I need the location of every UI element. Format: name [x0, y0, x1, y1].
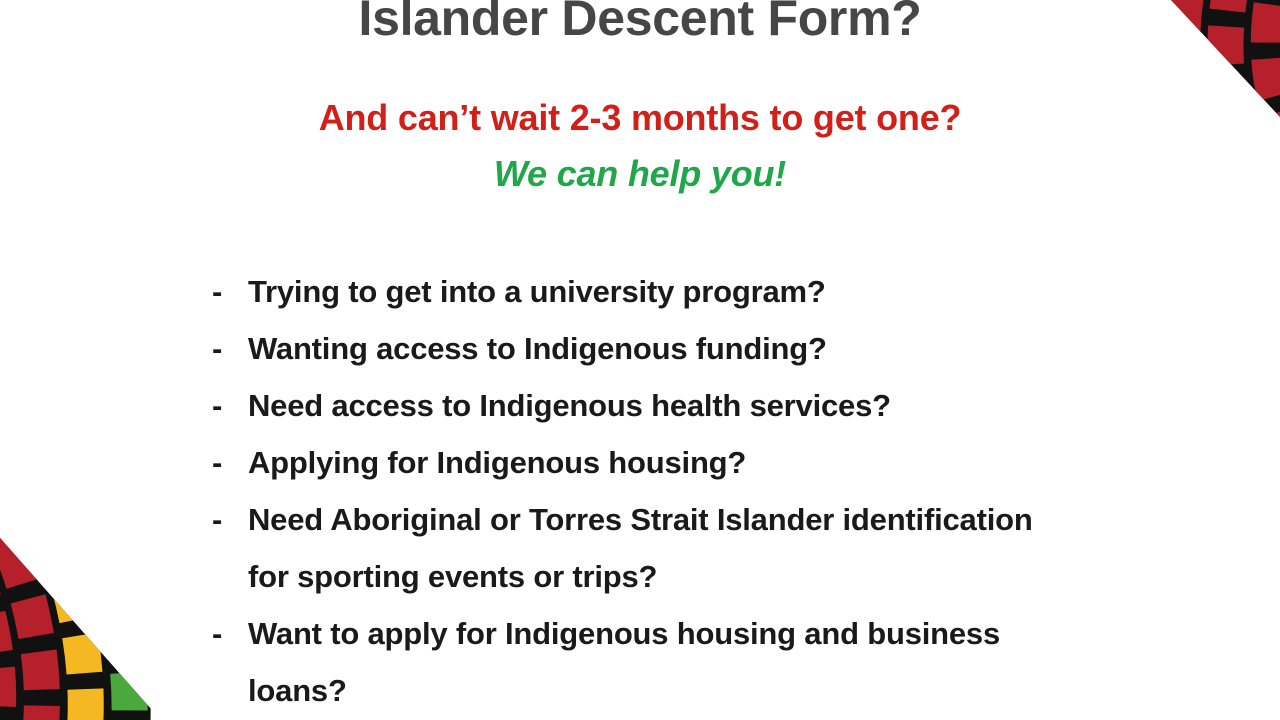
- list-item: - Wanting access to Indigenous funding?: [212, 320, 1072, 377]
- list-item: - Trying to get into a university progra…: [212, 263, 1072, 320]
- subtitle-green: We can help you!: [0, 140, 1280, 196]
- list-item: - Need Aboriginal or Torres Strait Islan…: [212, 491, 1072, 605]
- slide-canvas: Islander Descent Form? And can’t wait 2-…: [0, 0, 1280, 720]
- bullet-marker: -: [212, 491, 248, 548]
- bullet-marker: -: [212, 263, 248, 320]
- bullet-marker: -: [212, 320, 248, 377]
- list-item-label: Wanting access to Indigenous funding?: [248, 320, 1072, 377]
- subtitle-red: And can’t wait 2-3 months to get one?: [0, 60, 1280, 140]
- bullet-marker: -: [212, 605, 248, 662]
- page-title: Islander Descent Form?: [0, 0, 1280, 48]
- list-item-label: Want to apply for Indigenous housing and…: [248, 605, 1072, 719]
- bullet-list: - Trying to get into a university progra…: [212, 263, 1072, 719]
- list-item-label: Applying for Indigenous housing?: [248, 434, 1072, 491]
- aboriginal-dot-art-left: [0, 150, 162, 720]
- bullet-marker: -: [212, 434, 248, 491]
- list-item: - Want to apply for Indigenous housing a…: [212, 605, 1072, 719]
- list-item: - Applying for Indigenous housing?: [212, 434, 1072, 491]
- heading-block: Islander Descent Form? And can’t wait 2-…: [0, 0, 1280, 196]
- bullet-marker: -: [212, 377, 248, 434]
- list-item-label: Need access to Indigenous health service…: [248, 377, 1072, 434]
- list-item-label: Need Aboriginal or Torres Strait Islande…: [248, 491, 1072, 605]
- list-item: - Need access to Indigenous health servi…: [212, 377, 1072, 434]
- list-item-label: Trying to get into a university program?: [248, 263, 1072, 320]
